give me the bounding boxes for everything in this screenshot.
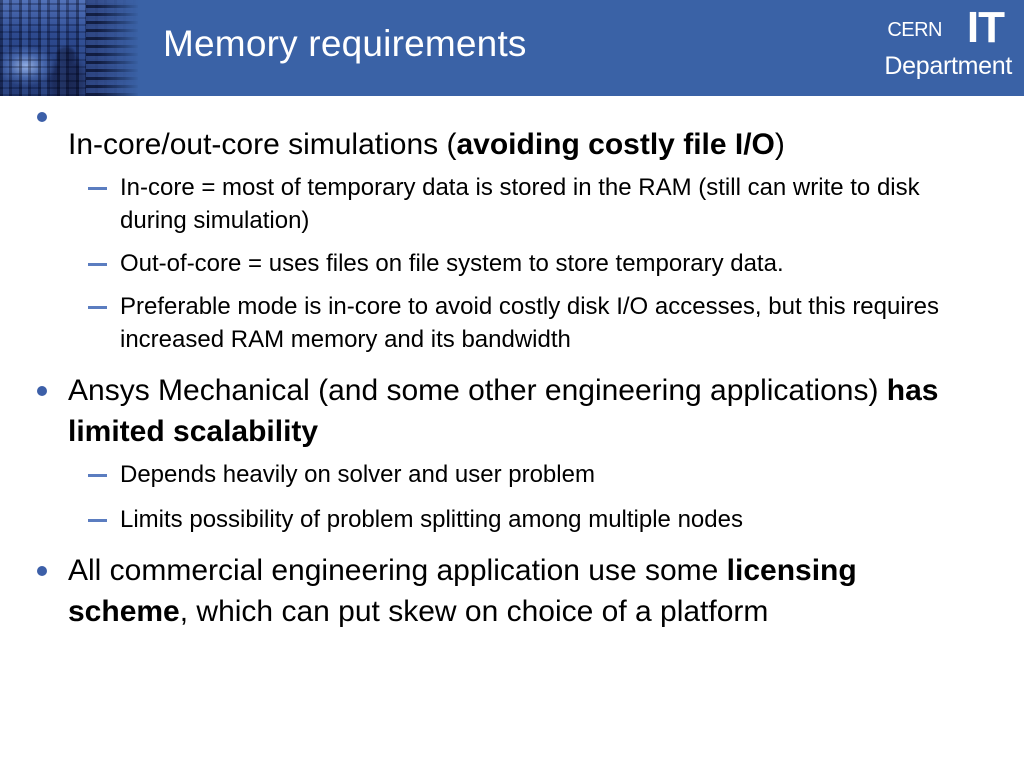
photo-edge-fade: [0, 0, 138, 96]
slide-body: In-core/out-core simulations (avoiding c…: [0, 96, 1024, 768]
bullet-dash-icon: [88, 306, 107, 309]
slide-header: Memory requirements CERN IT Department: [0, 0, 1024, 96]
sub-bullet-list: In-core = most of temporary data is stor…: [0, 171, 1024, 356]
bullet-dash-icon: [88, 474, 107, 477]
bullet-dash-icon: [88, 519, 107, 522]
sub-bullet-list: Depends heavily on solver and user probl…: [0, 458, 1024, 536]
bullet-level2: Preferable mode is in-core to avoid cost…: [0, 290, 1024, 356]
spacer: [0, 491, 1024, 503]
bullet-level1: Ansys Mechanical (and some other enginee…: [0, 370, 1024, 452]
spacer: [0, 356, 1024, 370]
logo-cern-text: CERN: [887, 20, 942, 40]
bullet-level2: In-core = most of temporary data is stor…: [0, 171, 1024, 237]
logo-department-text: Department: [884, 53, 1012, 79]
bullet-text-pre: All commercial engineering application u…: [68, 554, 727, 587]
bullet-level2: Limits possibility of problem splitting …: [0, 503, 1024, 536]
bullet-dash-icon: [88, 187, 107, 190]
bullet-dot-icon: [37, 386, 47, 396]
bullet-text-pre: In-core/out-core simulations (: [68, 128, 456, 161]
bullet-list: In-core/out-core simulations (avoiding c…: [0, 96, 1024, 632]
bullet-level2-text: Preferable mode is in-core to avoid cost…: [120, 290, 984, 356]
bullet-level1-text: Ansys Mechanical (and some other enginee…: [68, 370, 984, 452]
slide: Memory requirements CERN IT Department I…: [0, 0, 1024, 768]
bullet-level2-text: Out-of-core = uses files on file system …: [120, 247, 984, 280]
spacer: [0, 280, 1024, 290]
page-title: Memory requirements: [163, 21, 803, 67]
bullet-level2: Out-of-core = uses files on file system …: [0, 247, 1024, 280]
header-photo-datacenter: [0, 0, 138, 96]
bullet-level1: In-core/out-core simulations (avoiding c…: [0, 96, 1024, 165]
bullet-level2: Depends heavily on solver and user probl…: [0, 458, 1024, 491]
bullet-text-post: ): [775, 128, 785, 161]
bullet-level2-text: In-core = most of temporary data is stor…: [120, 171, 984, 237]
bullet-level1-text: In-core/out-core simulations (avoiding c…: [68, 124, 984, 165]
bullet-dot-icon: [37, 112, 47, 122]
bullet-text-post: , which can put skew on choice of a plat…: [180, 595, 769, 628]
cern-it-department-logo: CERN IT Department: [830, 8, 1016, 86]
bullet-text-pre: Ansys Mechanical (and some other enginee…: [68, 374, 887, 407]
bullet-text-bold: avoiding costly file I/O: [456, 128, 774, 161]
logo-it-text: IT: [967, 6, 1004, 50]
bullet-level2-text: Depends heavily on solver and user probl…: [120, 458, 984, 491]
bullet-level2-text: Limits possibility of problem splitting …: [120, 503, 984, 536]
bullet-dash-icon: [88, 263, 107, 266]
bullet-dot-icon: [37, 566, 47, 576]
logo-top-row: CERN IT: [830, 10, 1016, 54]
bullet-level1: All commercial engineering application u…: [0, 550, 1024, 632]
spacer: [0, 536, 1024, 550]
bullet-level1-text: All commercial engineering application u…: [68, 550, 984, 632]
spacer: [0, 237, 1024, 247]
